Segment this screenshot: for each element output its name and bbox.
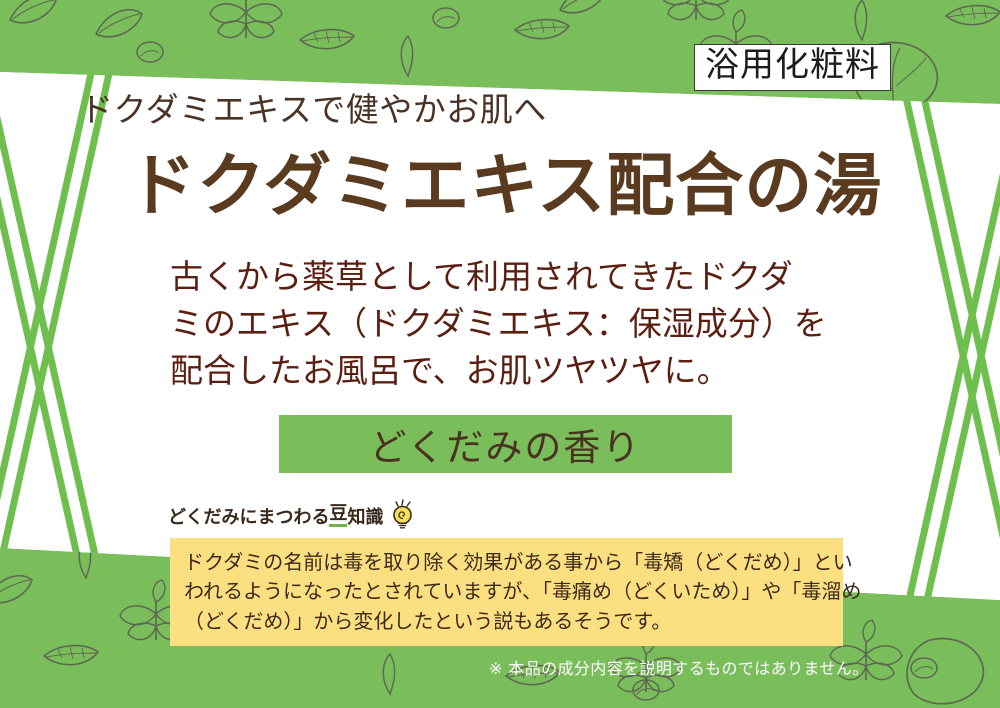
page-subtitle: ドクダミエキスで健やかお肌へ [80, 92, 547, 128]
disclaimer-text: ※ 本品の成分内容を説明するものではありません。 [489, 655, 869, 679]
scent-label: どくだみの香り [370, 417, 642, 471]
trivia-heading-suffix: 知識 [347, 509, 383, 527]
lead-line: 配合したお風呂で、お肌ツヤツヤに。 [170, 348, 890, 395]
trivia-box: ドクダミの名前は毒を取り除く効果がある事から「毒矯（どくだめ）」とい われるよう… [170, 538, 843, 646]
lead-line: 古くから薬草として利用されてきたドクダ [170, 254, 890, 301]
trivia-line: ドクダミの名前は毒を取り除く効果がある事から「毒矯（どくだめ）」とい [184, 548, 829, 577]
product-poster: 浴用化粧料 ドクダミエキスで健やかお肌へ ドクダミエキス配合の湯 古くから薬草と… [0, 0, 1000, 708]
trivia-line: （どくだめ）」から変化したという説もあるそうです。 [184, 607, 829, 636]
lead-line: ミのエキス（ドクダミエキス：保湿成分）を [170, 301, 890, 348]
trivia-heading-prefix: どくだみにまつわる [168, 509, 329, 527]
scent-banner: どくだみの香り [279, 415, 732, 473]
trivia-heading-underlined: 豆 [329, 505, 347, 527]
page-title: ドクダミエキス配合の湯 [128, 150, 882, 223]
trivia-heading: どくだみにまつわる 豆 知識 [168, 495, 419, 527]
category-badge: 浴用化粧料 [694, 44, 891, 91]
lightbulb-icon [385, 498, 419, 530]
lead-paragraph: 古くから薬草として利用されてきたドクダ ミのエキス（ドクダミエキス：保湿成分）を… [170, 254, 890, 395]
trivia-line: われるようになったとされていますが、「毒痛め（どくいため）」や「毒溜め [184, 577, 829, 606]
